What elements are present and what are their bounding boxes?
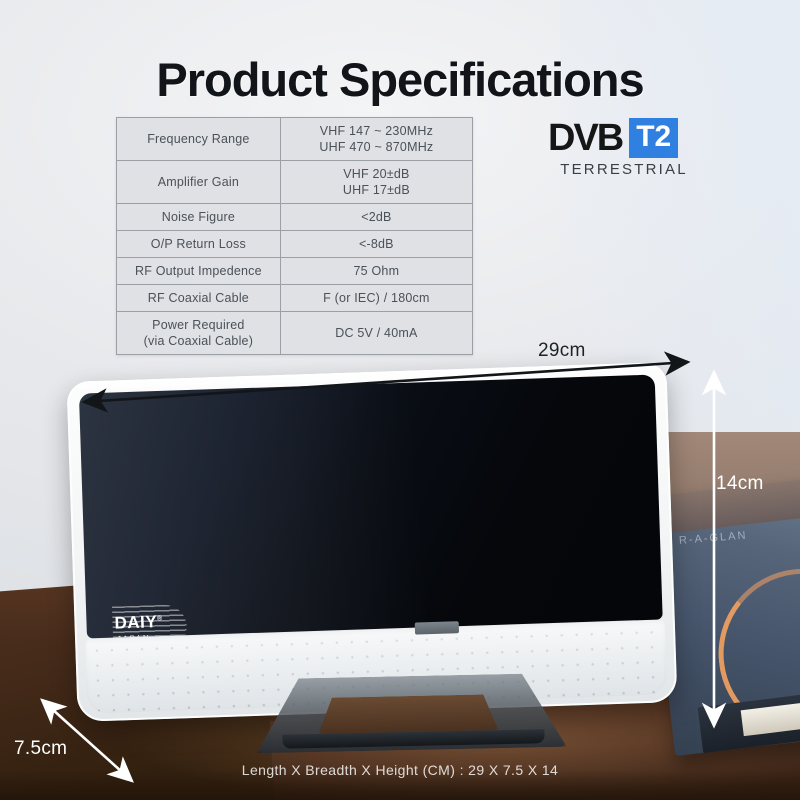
spec-value-line: VHF 20±dB	[343, 167, 409, 181]
spec-key: RF Coaxial Cable	[117, 285, 281, 312]
dvb-logo-row: DVB T2	[548, 118, 708, 158]
antenna-stand	[255, 673, 566, 753]
depth-dimension-label: 7.5cm	[14, 738, 67, 760]
spec-value-line: VHF 147 ~ 230MHz	[320, 124, 433, 138]
spec-table-body: Frequency Range VHF 147 ~ 230MHz UHF 470…	[117, 118, 473, 355]
antenna-center-notch	[415, 621, 459, 634]
table-row: Power Required (via Coaxial Cable) DC 5V…	[117, 312, 473, 355]
brand-name: DAIY®	[114, 613, 163, 632]
spec-value: DC 5V / 40mA	[280, 312, 472, 355]
book-title-text: R-A-GLAN	[679, 530, 748, 547]
dvb-subtitle: TERRESTRIAL	[548, 161, 700, 178]
table-row: Noise Figure <2dB	[117, 204, 473, 231]
dvb-wordmark: DVB	[548, 119, 622, 157]
page-title: Product Specifications	[0, 52, 800, 107]
stand-opening	[318, 694, 499, 734]
table-row: O/P Return Loss <-8dB	[117, 231, 473, 258]
spec-value: VHF 147 ~ 230MHz UHF 470 ~ 870MHz	[280, 118, 472, 161]
spec-value: 75 Ohm	[280, 258, 472, 285]
product-spec-image: R-A-GLAN Product Specifications Frequenc…	[0, 0, 800, 800]
dvb-t2-logo: DVB T2 TERRESTRIAL	[548, 118, 708, 178]
spec-key: Noise Figure	[117, 204, 281, 231]
spec-value: F (or IEC) / 180cm	[280, 285, 472, 312]
antenna-shell: DAIY® JAPAN	[67, 362, 678, 722]
panel-gloss-reflection	[79, 375, 584, 639]
dimensions-caption: Length X Breadth X Height (CM) : 29 X 7.…	[0, 762, 800, 778]
brand-logo: DAIY® JAPAN	[114, 613, 163, 639]
registered-icon: ®	[157, 615, 163, 622]
antenna-black-panel: DAIY® JAPAN	[79, 375, 663, 639]
specifications-table: Frequency Range VHF 147 ~ 230MHz UHF 470…	[116, 117, 473, 355]
height-dimension-label: 14cm	[716, 473, 764, 495]
spec-key: Power Required (via Coaxial Cable)	[117, 312, 281, 355]
antenna-product: DAIY® JAPAN	[67, 362, 678, 722]
spec-key-line: Power Required	[152, 318, 244, 332]
table-row: Amplifier Gain VHF 20±dB UHF 17±dB	[117, 161, 473, 204]
spec-key: Frequency Range	[117, 118, 281, 161]
table-row: RF Coaxial Cable F (or IEC) / 180cm	[117, 285, 473, 312]
spec-key: Amplifier Gain	[117, 161, 281, 204]
spec-value: <2dB	[280, 204, 472, 231]
table-row: RF Output Impedence 75 Ohm	[117, 258, 473, 285]
spec-value-line: UHF 470 ~ 870MHz	[319, 140, 433, 154]
brand-text: DAIY	[114, 612, 157, 632]
spec-value: VHF 20±dB UHF 17±dB	[280, 161, 472, 204]
spec-key-line: (via Coaxial Cable)	[144, 334, 253, 348]
width-dimension-label: 29cm	[538, 340, 586, 362]
spec-value: <-8dB	[280, 231, 472, 258]
spec-value-line: UHF 17±dB	[343, 183, 410, 197]
spec-key: O/P Return Loss	[117, 231, 281, 258]
table-row: Frequency Range VHF 147 ~ 230MHz UHF 470…	[117, 118, 473, 161]
t2-badge: T2	[629, 118, 678, 158]
spec-key: RF Output Impedence	[117, 258, 281, 285]
